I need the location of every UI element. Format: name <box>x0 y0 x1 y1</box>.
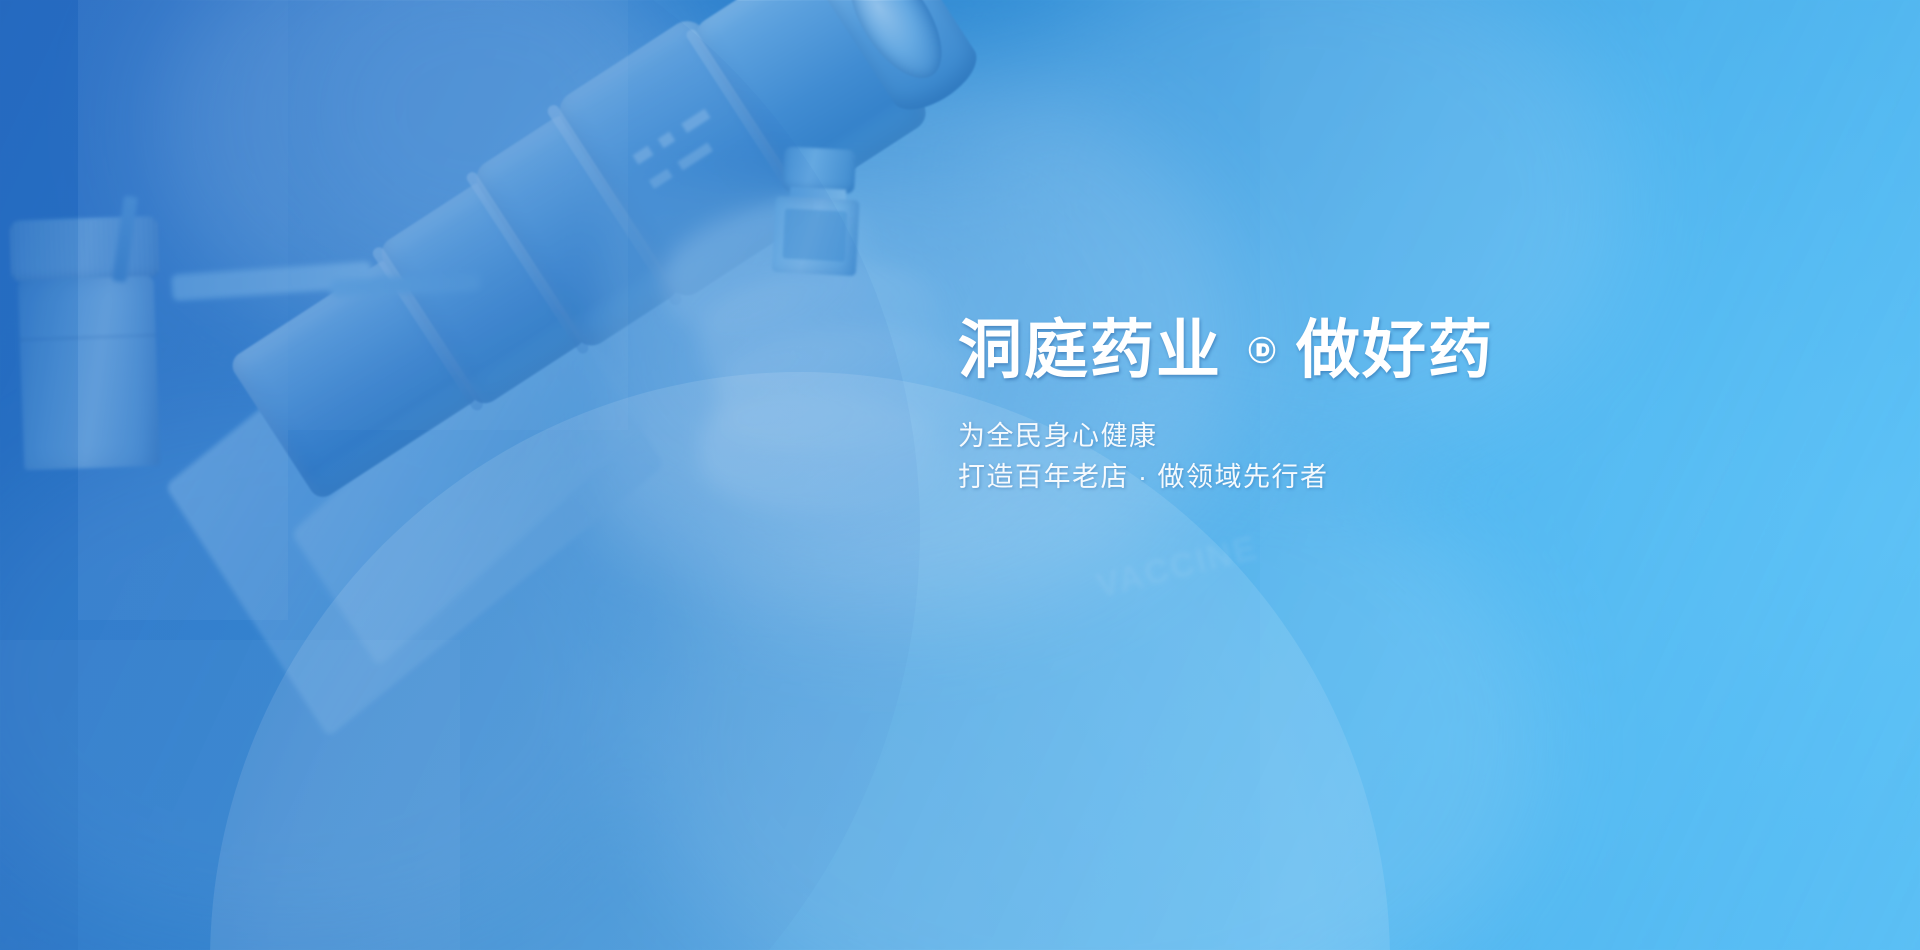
decorative-panel <box>288 0 628 430</box>
dongting-circle-logo-icon <box>1248 336 1276 364</box>
decorative-panel <box>0 640 460 950</box>
hero-tagline: 为全民身心健康 打造百年老店 · 做领域先行者 <box>958 416 1494 498</box>
headline-slogan: 做好药 <box>1296 318 1494 382</box>
hero-headline: 洞庭药业 做好药 <box>958 318 1494 382</box>
tagline-line-2: 打造百年老店 · 做领域先行者 <box>958 457 1494 498</box>
tagline-line-1: 为全民身心健康 <box>958 416 1494 457</box>
decorative-panel <box>78 0 288 620</box>
microscope-eyepiece <box>806 0 988 123</box>
hero-copy: 洞庭药业 做好药 为全民身心健康 打造百年老店 · 做领域先行者 <box>958 318 1494 498</box>
headline-brand-name: 洞庭药业 <box>958 318 1222 382</box>
microscope-lens <box>832 0 960 93</box>
hero-banner: VACCINE 洞庭药业 做好药 为全民身心健康 打造百年老店 · 做领域先行者 <box>0 0 1920 950</box>
